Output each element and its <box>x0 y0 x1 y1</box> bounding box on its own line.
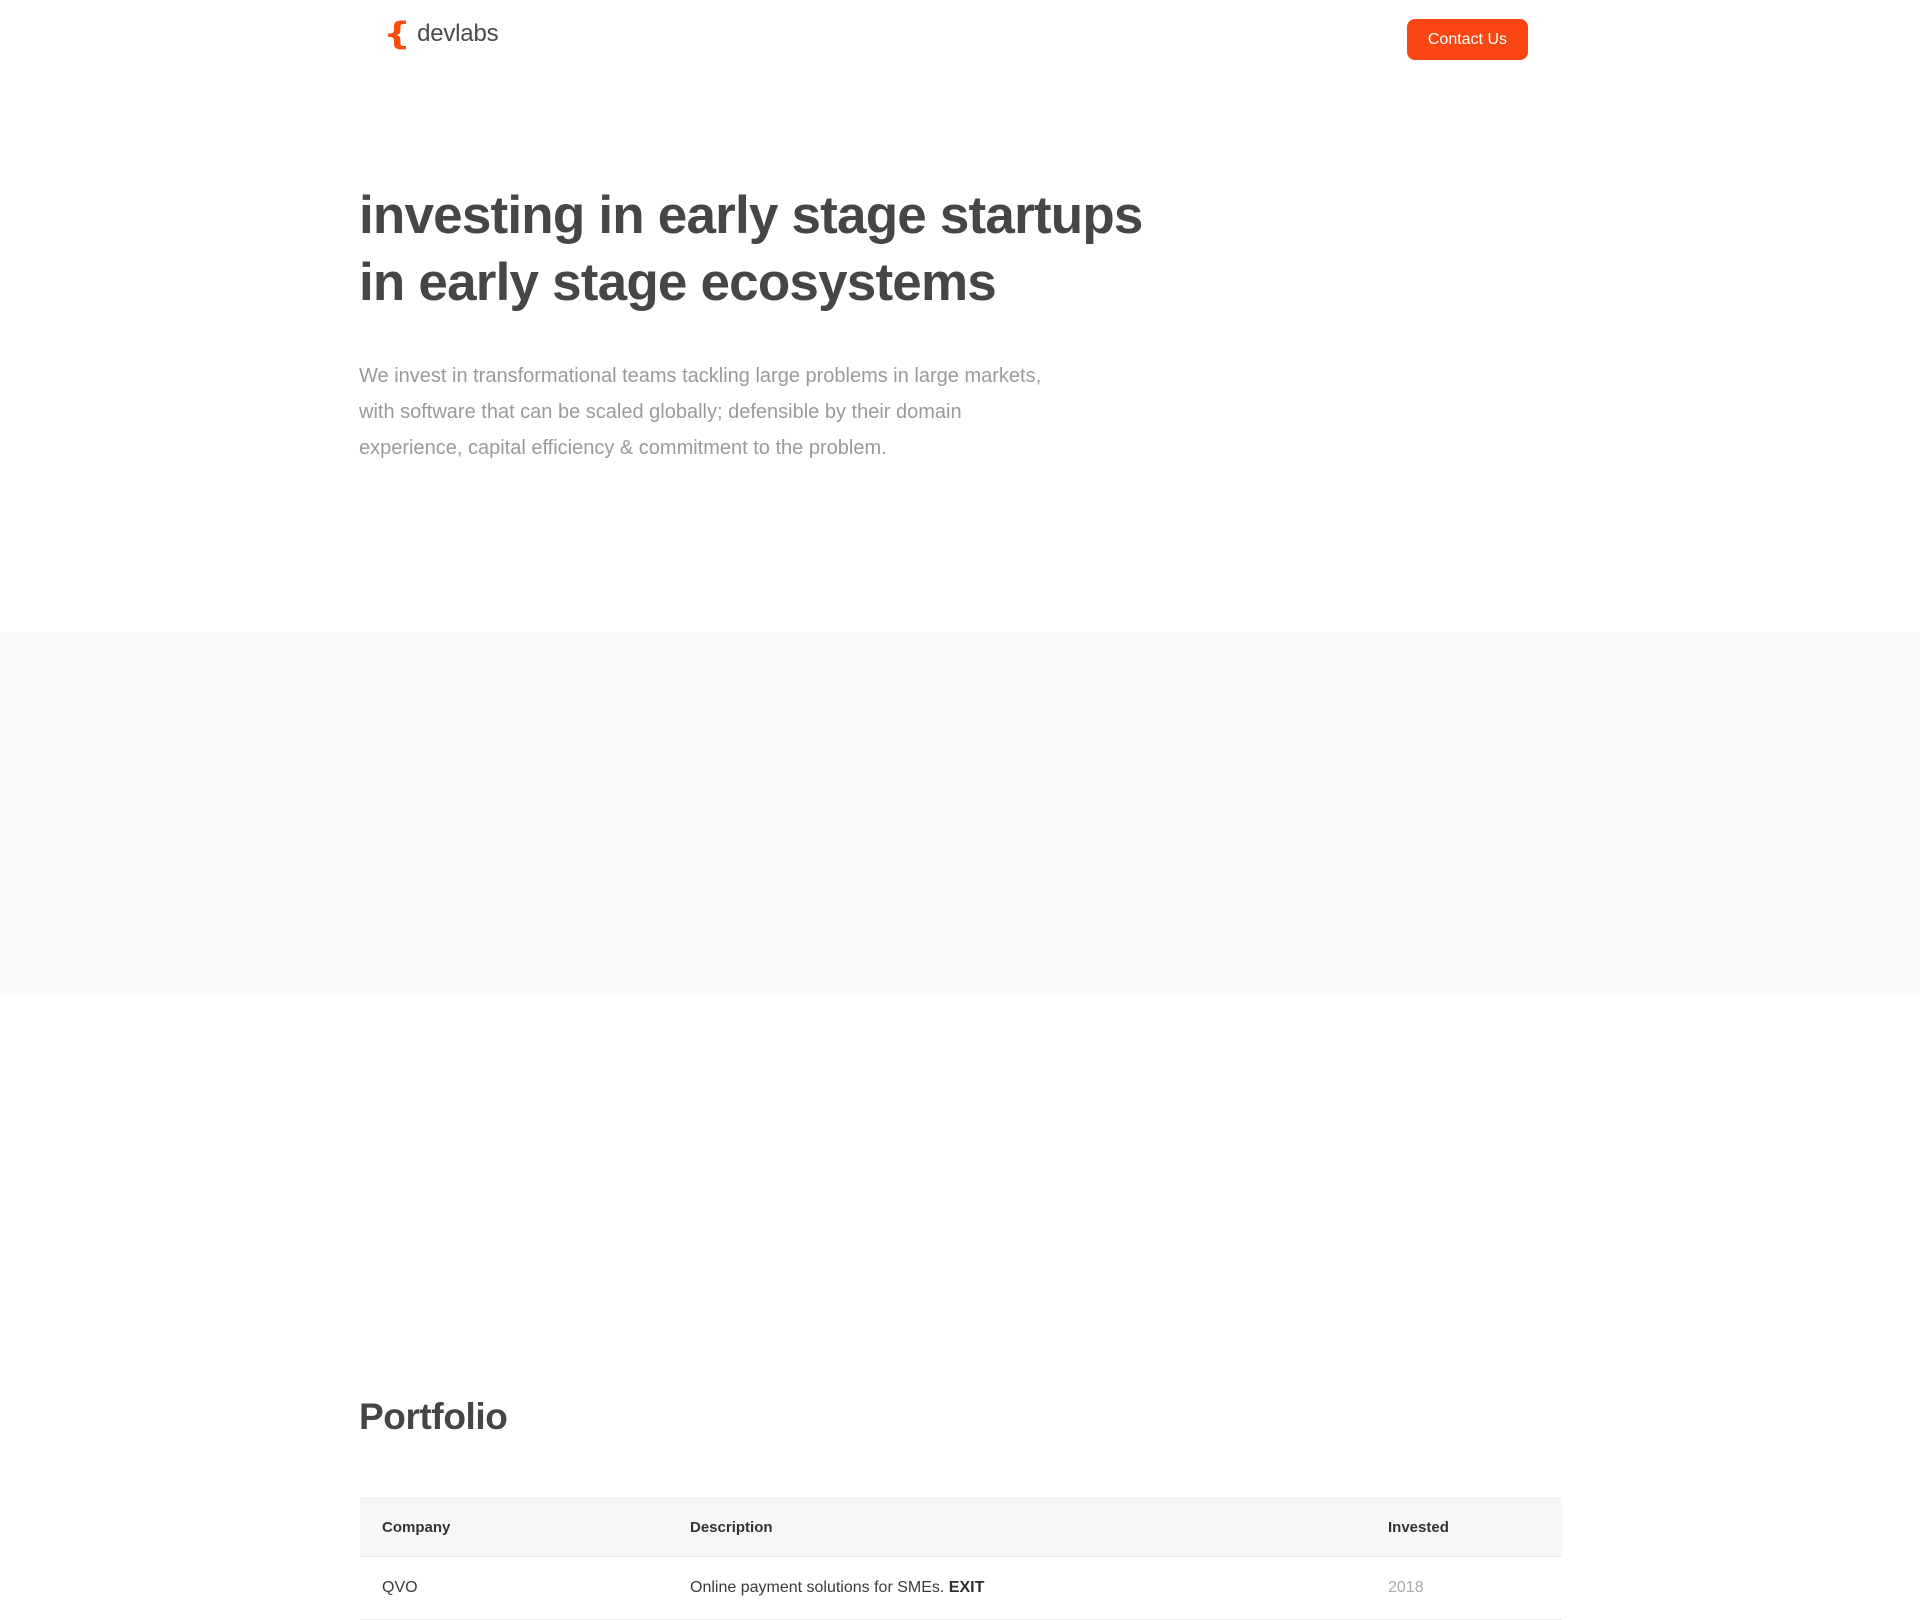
table-header-row: Company Description Invested <box>360 1499 1562 1557</box>
page-root: { devlabs Insights Contact Us investing … <box>0 0 1920 993</box>
exit-badge: EXIT <box>949 1579 985 1596</box>
portfolio-table: Company Description Invested QVO Online … <box>360 1498 1562 1620</box>
top-navigation: { devlabs Insights Contact Us <box>0 0 1920 80</box>
table-header: Company Description Invested <box>360 1499 1562 1557</box>
cell-invested: 2018 <box>1366 1557 1562 1620</box>
hero-section: { devlabs Insights Contact Us investing … <box>0 0 1920 632</box>
column-header-description[interactable]: Description <box>668 1499 1366 1557</box>
brace-icon: { <box>383 19 411 50</box>
brand-name: devlabs <box>417 22 498 46</box>
hero-title: investing in early stage startups in ear… <box>359 182 1359 316</box>
portfolio-section: Portfolio Company Description Invested Q… <box>0 632 1920 993</box>
column-header-invested[interactable]: Invested <box>1366 1499 1562 1557</box>
contact-us-button[interactable]: Contact Us <box>1407 19 1528 60</box>
description-text: Online payment solutions for SMEs. <box>690 1579 944 1596</box>
hero-subtitle: We invest in transformational teams tack… <box>359 358 1059 466</box>
portfolio-heading: Portfolio <box>359 1398 507 1435</box>
cell-company: QVO <box>360 1557 668 1620</box>
table-row[interactable]: QVO Online payment solutions for SMEs. E… <box>360 1557 1562 1620</box>
cell-description: Online payment solutions for SMEs. EXIT <box>668 1557 1366 1620</box>
brand-logo[interactable]: { devlabs <box>386 18 498 49</box>
table-body: QVO Online payment solutions for SMEs. E… <box>360 1557 1562 1620</box>
column-header-company[interactable]: Company <box>360 1499 668 1557</box>
